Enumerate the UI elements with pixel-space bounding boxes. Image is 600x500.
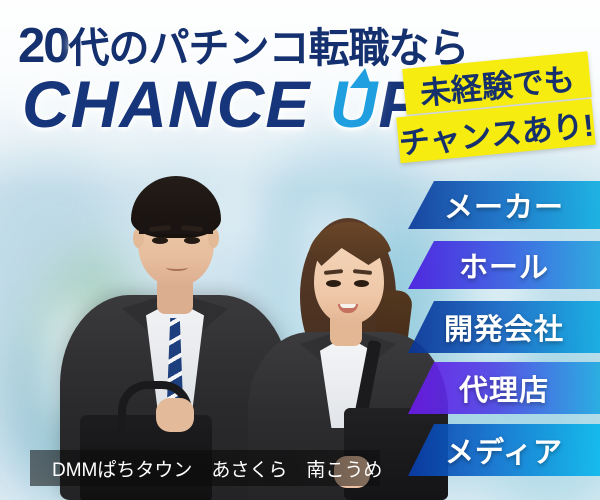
category-button-media[interactable]: メディア <box>408 424 600 476</box>
recruitment-banner: 20代のパチンコ転職なら CHANCE UP 未経験でも チャンスあり! メーカ… <box>0 0 600 500</box>
photo-credit-caption: DMMぱちタウン あさくら 南こうめ <box>30 450 380 486</box>
category-button-hall[interactable]: ホール <box>408 241 600 289</box>
category-button-agency[interactable]: 代理店 <box>408 362 600 414</box>
category-button-developer[interactable]: 開発会社 <box>408 301 600 353</box>
category-button-maker[interactable]: メーカー <box>408 181 600 229</box>
